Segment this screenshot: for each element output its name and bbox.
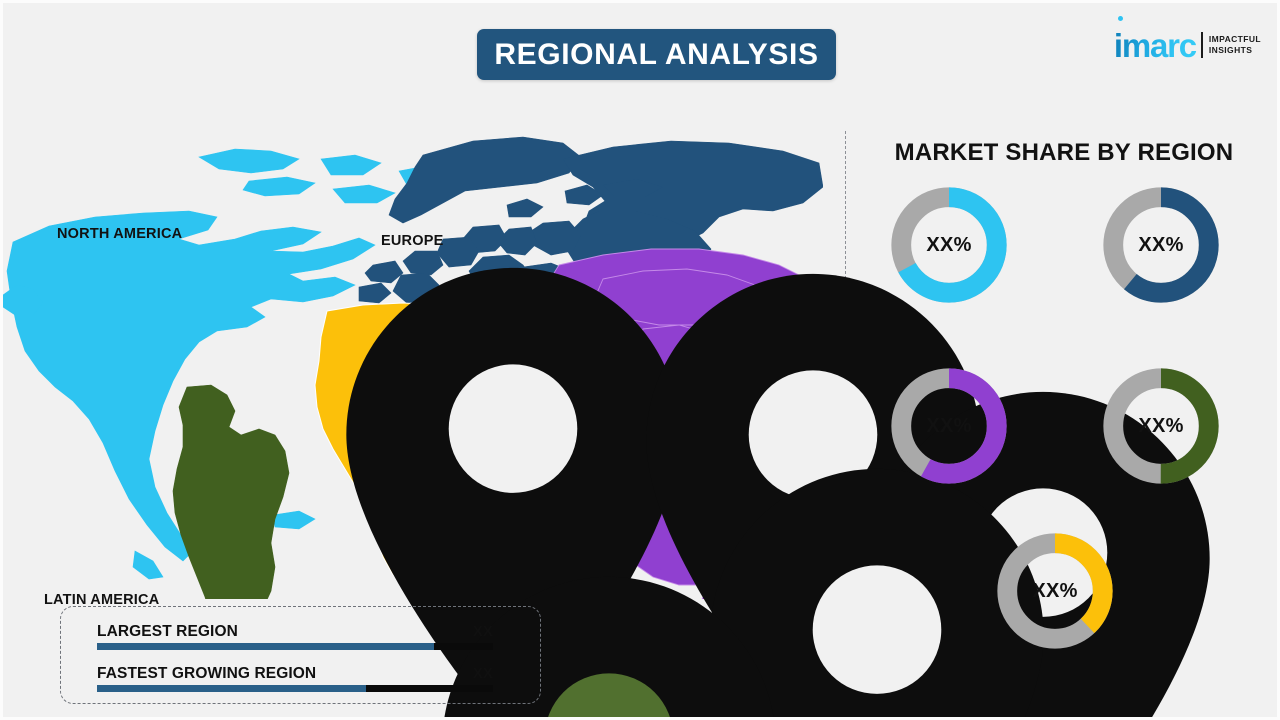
logo-tagline: IMPACTFUL INSIGHTS	[1209, 34, 1261, 57]
donut-value-label: XX%	[1098, 363, 1224, 489]
market-share-title: MARKET SHARE BY REGION	[845, 139, 1280, 167]
donut-chart-latin-america: XX%	[1098, 363, 1224, 489]
infographic-canvas: REGIONAL ANALYSIS imarc IMPACTFUL INSIGH…	[0, 0, 1280, 720]
donut-chart-asia-pacific: XX%	[886, 363, 1012, 489]
logo-wordmark: imarc	[1114, 29, 1198, 62]
legend-label: LARGEST REGION	[97, 623, 238, 641]
legend-progress-fill	[97, 643, 434, 650]
logo-dot-icon	[1118, 16, 1123, 21]
logo-divider-bar	[1201, 32, 1203, 58]
legend-head: FASTEST GROWING REGION XX	[97, 665, 493, 683]
donut-value-label: XX%	[886, 182, 1012, 308]
legend-head: LARGEST REGION XX	[97, 623, 493, 641]
legend-value: XX	[473, 666, 493, 682]
imarc-logo: imarc IMPACTFUL INSIGHTS	[1114, 23, 1261, 67]
page-title-banner: REGIONAL ANALYSIS	[477, 29, 836, 80]
legend-progress-fill	[97, 685, 366, 692]
donut-chart-north-america: XX%	[886, 182, 1012, 308]
legend-row-fastest-growing-region: FASTEST GROWING REGION XX	[97, 665, 493, 692]
logo-tagline-line1: IMPACTFUL	[1209, 34, 1261, 45]
donut-chart-europe: XX%	[1098, 182, 1224, 308]
legend-box: LARGEST REGION XX FASTEST GROWING REGION…	[60, 606, 541, 704]
donut-value-label: XX%	[992, 528, 1118, 654]
logo-tagline-line2: INSIGHTS	[1209, 45, 1261, 56]
legend-progress-track	[97, 643, 493, 650]
donut-value-label: XX%	[886, 363, 1012, 489]
world-map: NORTH AMERICA EUROPE ASIA PACIFIC MIDDLE…	[3, 99, 823, 599]
donut-value-label: XX%	[1098, 182, 1224, 308]
map-label-north-america: NORTH AMERICA	[57, 225, 182, 245]
legend-value: XX	[473, 624, 493, 640]
legend-progress-track	[97, 685, 493, 692]
map-label-europe: EUROPE	[381, 232, 443, 252]
donut-chart-middle-east-africa: XX%	[992, 528, 1118, 654]
legend-label: FASTEST GROWING REGION	[97, 665, 316, 683]
legend-row-largest-region: LARGEST REGION XX	[97, 623, 493, 650]
page-title: REGIONAL ANALYSIS	[494, 38, 818, 72]
